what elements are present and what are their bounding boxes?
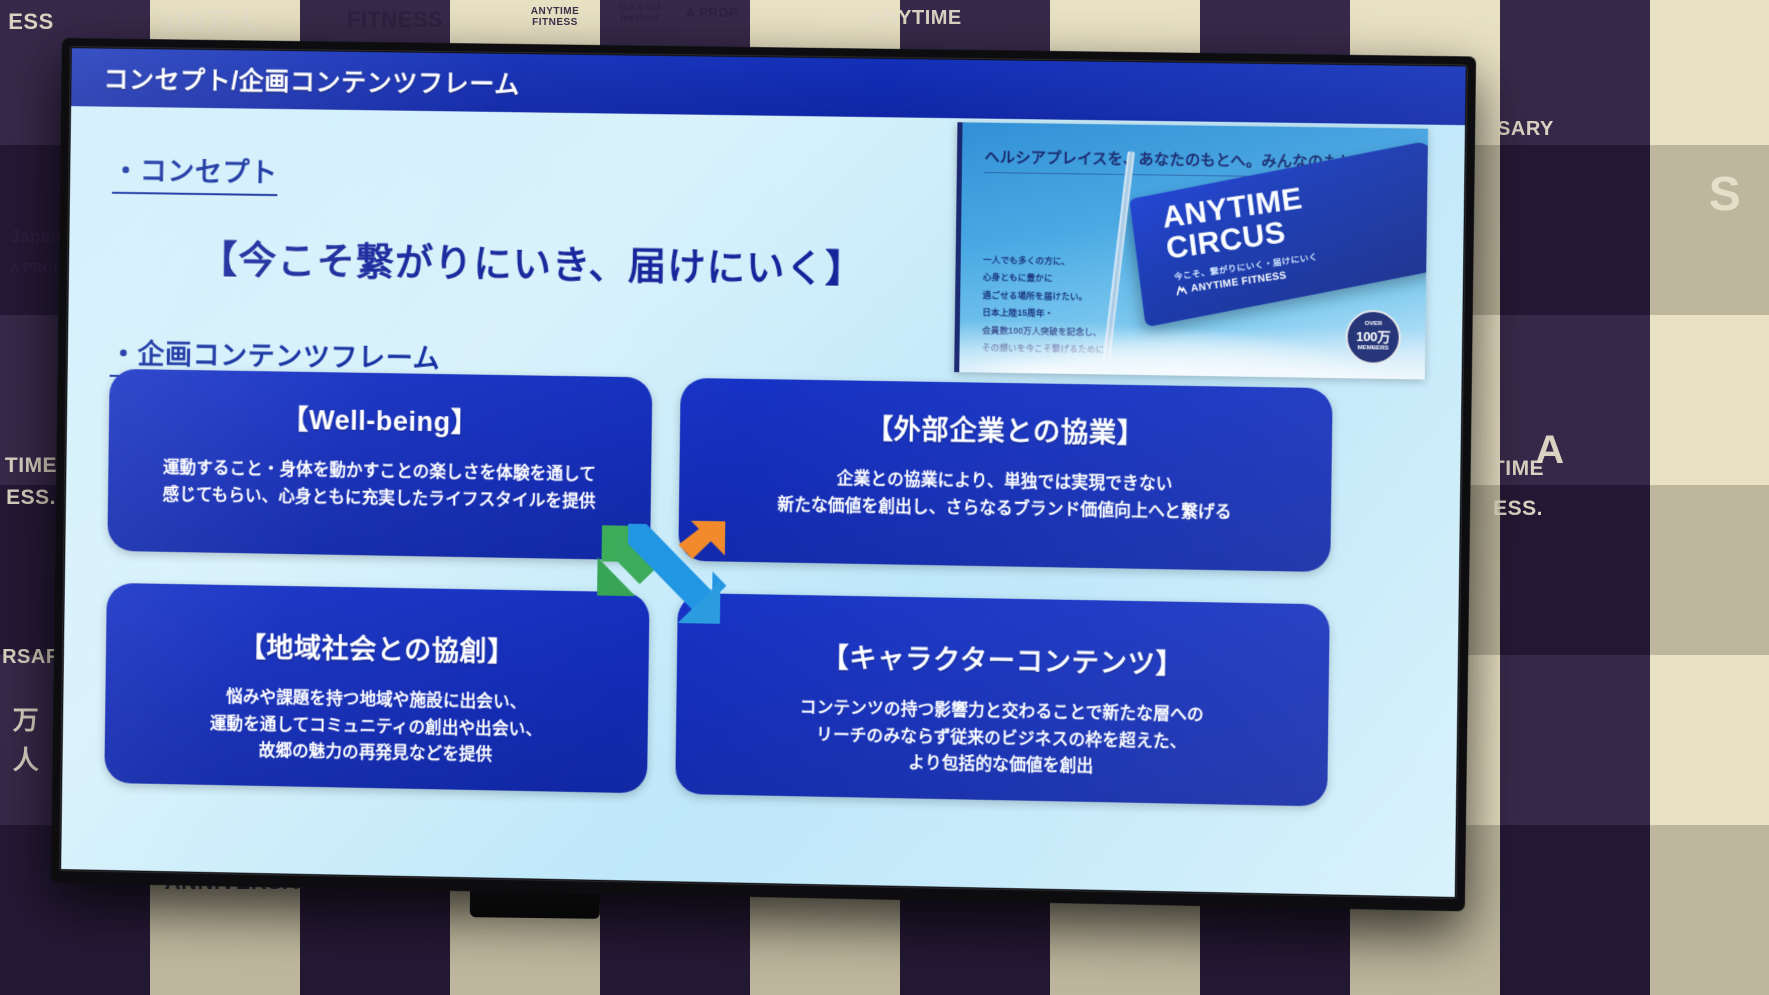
frame-box-character-content[interactable]: 【キャラクターコンテンツ】 コンテンツの持つ影響力と交わることで新たな層へのリー…: [675, 593, 1330, 807]
badge-members-text: MEMBERS: [1357, 345, 1388, 353]
screenshot-stage: 100万人FITNESSANYTIME FITNESSthe best meth…: [0, 0, 1769, 995]
frame-box-title: 【外部企業との協業】: [866, 407, 1146, 451]
backdrop-logo-text: ANYTIME: [830, 0, 1000, 36]
poster-subcopy-line: 過ごせる場所を届けたい。: [982, 287, 1113, 307]
poster-headline-line: ヘルシアプレイスを、: [984, 145, 1138, 175]
anytime-circus-poster-image: ヘルシアプレイスを、あなたのもとへ。みんなのもとへ。 一人でも多くの方に、心身と…: [954, 122, 1428, 379]
frame-box-body: 悩みや課題を持つ地域や施設に出会い、運動を通してコミュニティの創出や出会い、故郷…: [209, 684, 542, 771]
badge-count: 100万: [1356, 329, 1390, 346]
frame-box-community[interactable]: 【地域社会との協創】 悩みや課題を持つ地域や施設に出会い、運動を通してコミュニテ…: [104, 583, 649, 794]
frame-box-partnership[interactable]: 【外部企業との協業】 企業との協業により、単独では実現できない新たな価値を創出し…: [678, 378, 1332, 572]
flag-wordmark: ANYTIME CIRCUS: [1161, 184, 1309, 265]
frame-box-wellbeing[interactable]: 【Well-being】 運動すること・身体を動かすことの楽しさを体験を通して感…: [107, 369, 652, 560]
backdrop-logo-text: ANYTIME FITNESS: [510, 0, 600, 34]
backdrop-logo-text: FITNESS: [300, 0, 490, 40]
backdrop-logo-text: ESS: [0, 0, 62, 44]
backdrop-logo-text: 万: [0, 700, 52, 740]
frame-box-title: 【キャラクターコンテンツ】: [821, 636, 1183, 682]
backdrop-logo-text: TIME: [1478, 452, 1558, 486]
slide-title: コンセプト/企画コンテンツフレーム: [103, 60, 520, 102]
four-way-arrow-icon: [593, 517, 728, 632]
backdrop-logo-text: TIME: [0, 450, 62, 482]
frame-box-body-line: 故郷の魅力の再発見などを提供: [209, 737, 542, 770]
poster-subcopy-line: 心身ともに豊かに: [983, 269, 1114, 289]
slide-header-bar: コンセプト/企画コンテンツフレーム: [71, 48, 1466, 125]
backdrop-logo-text: 人: [0, 740, 52, 780]
frame-box-body: 運動すること・身体を動かすことの楽しさを体験を通して感じてもらい、心身ともに充実…: [162, 455, 596, 516]
backdrop-logo-text: ESS.: [1478, 492, 1558, 526]
backdrop-logo-text: the best method: [600, 0, 680, 26]
backdrop-logo-text: A PROP: [672, 0, 752, 26]
frame-box-body: コンテンツの持つ影響力と交わることで新たな層へのリーチのみならず従来のビジネスの…: [799, 695, 1204, 783]
section-heading-concept: ・コンセプト: [112, 149, 278, 196]
concept-tagline: 【今こそ繋がりにいき、届けにいく】: [199, 228, 865, 293]
poster-subcopy-line: 一人でも多くの方に、: [983, 252, 1114, 272]
backdrop-logo-text: S: [1690, 160, 1760, 230]
television-display: コンセプト/企画コンテンツフレーム ・コンセプト 【今こそ繋がりにいき、届けにい…: [51, 38, 1476, 911]
frame-box-title: 【地域社会との協創】: [239, 625, 516, 669]
poster-headline-line: あなたのもとへ。: [1138, 147, 1261, 177]
backdrop-logo-text: 100万人: [120, 0, 300, 44]
backdrop-logo-text: ESS.: [0, 482, 62, 514]
backdrop-logo-text: RSARY: [1470, 110, 1566, 148]
frame-box-title: 【Well-being】: [281, 398, 479, 440]
frame-box-body: 企業との協業により、単独では実現できない新たな価値を創出し、さらなるブランド価値…: [777, 465, 1232, 526]
presentation-slide: コンセプト/企画コンテンツフレーム ・コンセプト 【今こそ繋がりにいき、届けにい…: [61, 48, 1466, 897]
